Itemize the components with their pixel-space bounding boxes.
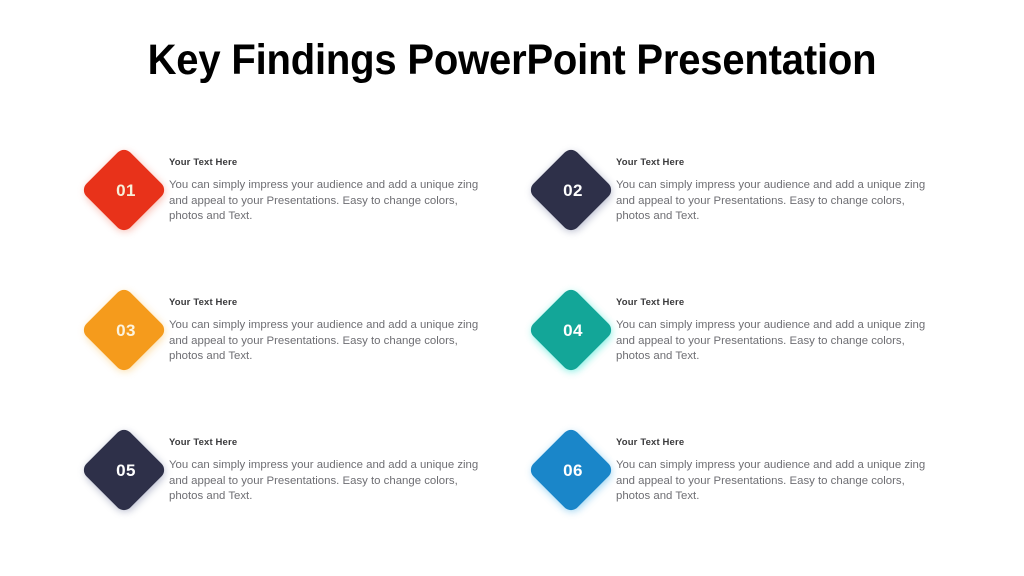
list-item[interactable]: 05 Your Text Here You can simply impress… [72, 425, 492, 545]
item-heading: Your Text Here [616, 157, 941, 169]
diamond-badge[interactable]: 04 [529, 290, 617, 378]
diamond-badge[interactable]: 02 [529, 150, 617, 238]
slide-canvas: Key Findings PowerPoint Presentation 01 … [0, 0, 1024, 576]
badge-number: 01 [82, 159, 170, 221]
item-heading: Your Text Here [616, 297, 941, 309]
item-text-block: Your Text Here You can simply impress yo… [169, 437, 494, 505]
badge-number: 05 [82, 439, 170, 501]
badge-number: 03 [82, 299, 170, 361]
diamond-badge[interactable]: 06 [529, 430, 617, 518]
item-heading: Your Text Here [169, 297, 494, 309]
item-text-block: Your Text Here You can simply impress yo… [616, 157, 941, 225]
item-body: You can simply impress your audience and… [169, 178, 491, 225]
list-item[interactable]: 03 Your Text Here You can simply impress… [72, 285, 492, 405]
item-text-block: Your Text Here You can simply impress yo… [169, 157, 494, 225]
item-body: You can simply impress your audience and… [616, 318, 938, 365]
badge-number: 06 [529, 439, 617, 501]
item-body: You can simply impress your audience and… [616, 458, 938, 505]
item-text-block: Your Text Here You can simply impress yo… [616, 437, 941, 505]
badge-number: 02 [529, 159, 617, 221]
badge-number: 04 [529, 299, 617, 361]
item-heading: Your Text Here [169, 157, 494, 169]
diamond-badge[interactable]: 03 [82, 290, 170, 378]
item-text-block: Your Text Here You can simply impress yo… [616, 297, 941, 365]
list-item[interactable]: 02 Your Text Here You can simply impress… [519, 145, 939, 265]
item-body: You can simply impress your audience and… [616, 178, 938, 225]
item-heading: Your Text Here [169, 437, 494, 449]
list-item[interactable]: 04 Your Text Here You can simply impress… [519, 285, 939, 405]
diamond-badge[interactable]: 01 [82, 150, 170, 238]
list-item[interactable]: 01 Your Text Here You can simply impress… [72, 145, 492, 265]
item-text-block: Your Text Here You can simply impress yo… [169, 297, 494, 365]
key-findings-grid: 01 Your Text Here You can simply impress… [0, 0, 1024, 576]
item-body: You can simply impress your audience and… [169, 458, 491, 505]
item-body: You can simply impress your audience and… [169, 318, 491, 365]
item-heading: Your Text Here [616, 437, 941, 449]
list-item[interactable]: 06 Your Text Here You can simply impress… [519, 425, 939, 545]
diamond-badge[interactable]: 05 [82, 430, 170, 518]
